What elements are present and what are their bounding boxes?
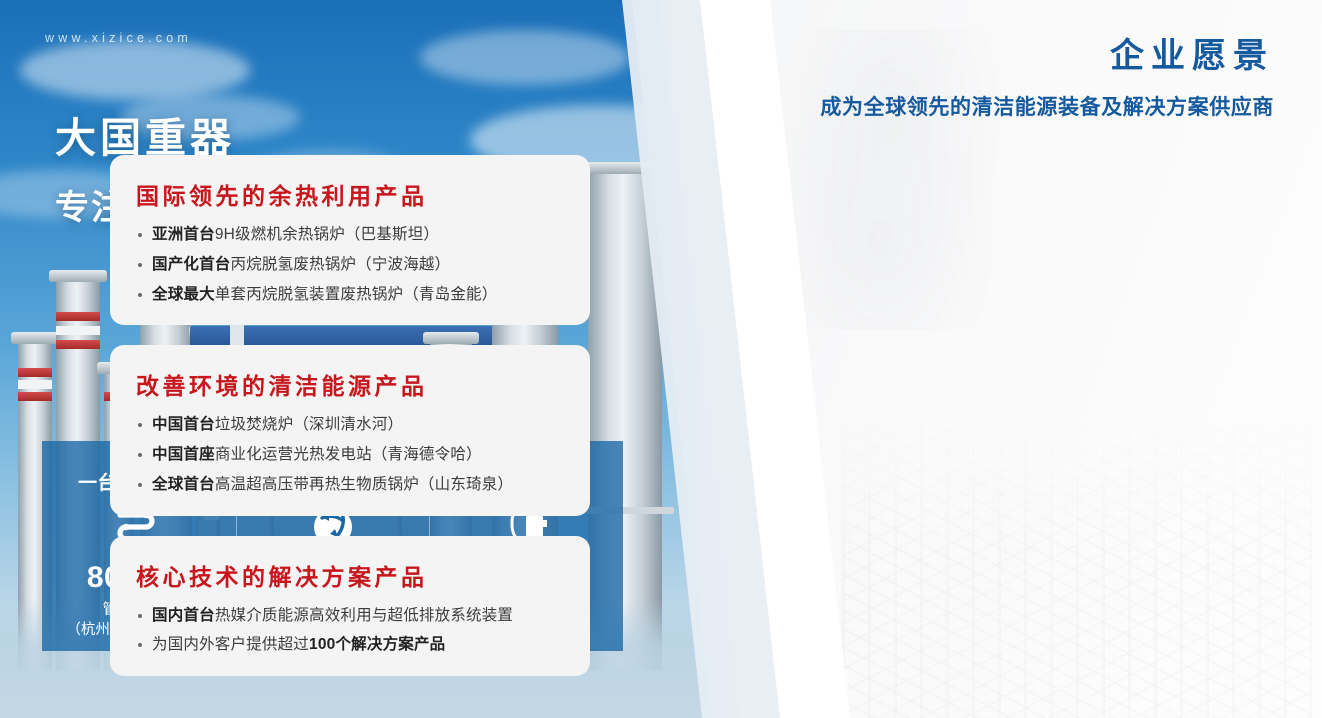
list-item: 全球首台高温超高压带再热生物质锅炉（山东琦泉） [136, 475, 564, 496]
list-item: 国产化首台丙烷脱氢废热锅炉（宁波海越） [136, 255, 564, 276]
bullet-strong: 全球最大 [152, 286, 215, 303]
card-bullet-list: 亚洲首台9H级燃机余热锅炉（巴基斯坦） 国产化首台丙烷脱氢废热锅炉（宁波海越） … [136, 225, 564, 305]
card-title: 改善环境的清洁能源产品 [136, 367, 564, 401]
card-bullet-list: 中国首台垃圾焚烧炉（深圳清水河） 中国首座商业化运营光热发电站（青海德令哈） 全… [136, 415, 564, 495]
card-title: 核心技术的解决方案产品 [136, 558, 564, 592]
bullet-strong: 国内首台 [152, 607, 215, 624]
vision-card[interactable]: 核心技术的解决方案产品 国内首台热媒介质能源高效利用与超低排放系统装置 为国内外… [110, 536, 590, 677]
cloud-decor [20, 40, 250, 100]
bullet-strong: 亚洲首台 [152, 226, 215, 243]
website-url-watermark: www.xizice.com [45, 31, 192, 45]
page-subtitle: 成为全球领先的清洁能源装备及解决方案供应商 [820, 91, 1274, 121]
bullet-strong: 国产化首台 [152, 256, 231, 273]
bullet-strong-tail: 100个解决方案产品 [309, 636, 445, 653]
bullet-rest: 高温超高压带再热生物质锅炉（山东琦泉） [215, 476, 513, 493]
bullet-rest: 热媒介质能源高效利用与超低排放系统装置 [215, 607, 513, 624]
vision-card[interactable]: 改善环境的清洁能源产品 中国首台垃圾焚烧炉（深圳清水河） 中国首座商业化运营光热… [110, 345, 590, 515]
vision-card[interactable]: 国际领先的余热利用产品 亚洲首台9H级燃机余热锅炉（巴基斯坦） 国产化首台丙烷脱… [110, 155, 590, 325]
cloud-decor [420, 30, 630, 85]
card-bullet-list: 国内首台热媒介质能源高效利用与超低排放系统装置 为国内外客户提供超过100个解决… [136, 606, 564, 657]
list-item: 亚洲首台9H级燃机余热锅炉（巴基斯坦） [136, 225, 564, 246]
list-item: 为国内外客户提供超过100个解决方案产品 [136, 635, 564, 656]
bullet-rest: 9H级燃机余热锅炉（巴基斯坦） [215, 226, 439, 243]
bullet-strong: 中国首座 [152, 446, 215, 463]
bullet-rest: 垃圾焚烧炉（深圳清水河） [215, 416, 403, 433]
slide-canvas: www.xizice.com 大国重器 专注节能减排 助力碳中和 一台9H级燃机… [0, 0, 1322, 718]
page-title: 企业愿景 [820, 28, 1274, 77]
bullet-rest: 单套丙烷脱氢装置废热锅炉（青岛金能） [215, 286, 498, 303]
bullet-strong: 全球首台 [152, 476, 215, 493]
list-item: 中国首座商业化运营光热发电站（青海德令哈） [136, 445, 564, 466]
card-title: 国际领先的余热利用产品 [136, 177, 564, 211]
list-item: 全球最大单套丙烷脱氢装置废热锅炉（青岛金能） [136, 285, 564, 306]
background-watermark-bottom [842, 408, 1312, 718]
bullet-rest: 为国内外客户提供超过 [152, 636, 309, 653]
bullet-rest: 商业化运营光热发电站（青海德令哈） [215, 446, 482, 463]
list-item: 中国首台垃圾焚烧炉（深圳清水河） [136, 415, 564, 436]
vision-header: 企业愿景 成为全球领先的清洁能源装备及解决方案供应商 [820, 28, 1274, 121]
vision-card-list: 国际领先的余热利用产品 亚洲首台9H级燃机余热锅炉（巴基斯坦） 国产化首台丙烷脱… [110, 155, 590, 696]
bullet-strong: 中国首台 [152, 416, 215, 433]
list-item: 国内首台热媒介质能源高效利用与超低排放系统装置 [136, 606, 564, 627]
bullet-rest: 丙烷脱氢废热锅炉（宁波海越） [231, 256, 451, 273]
